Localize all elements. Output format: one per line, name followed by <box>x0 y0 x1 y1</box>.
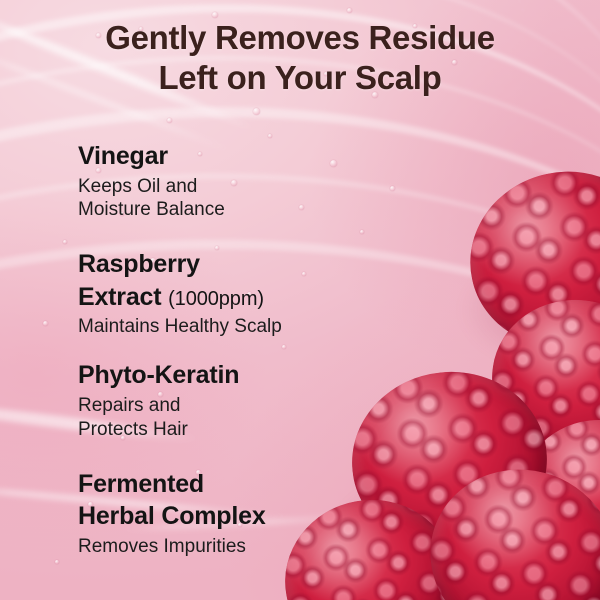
ingredient-item-raspberry-extract: Raspberry Extract (1000ppm) Maintains He… <box>78 248 368 339</box>
ingredient-quantity: (1000ppm) <box>168 288 264 310</box>
ingredient-item-phyto-keratin: Phyto-Keratin Repairs and Protects Hair <box>78 359 368 441</box>
ingredient-description: Maintains Healthy Scalp <box>78 315 368 339</box>
product-benefit-infographic: Gently Removes Residue Left on Your Scal… <box>0 0 600 600</box>
ingredient-description: Repairs and Protects Hair <box>78 394 368 442</box>
ingredient-name: Raspberry Extract (1000ppm) <box>78 248 368 313</box>
ingredient-list: Vinegar Keeps Oil and Moisture Balance R… <box>78 140 368 559</box>
ingredient-name: Fermented Herbal Complex <box>78 468 368 533</box>
ingredient-name-text: Phyto-Keratin <box>78 361 239 389</box>
ingredient-description: Removes Impurities <box>78 535 368 559</box>
page-title: Gently Removes Residue Left on Your Scal… <box>0 18 600 99</box>
ingredient-name: Phyto-Keratin <box>78 359 368 392</box>
ingredient-name-text: Vinegar <box>78 142 168 170</box>
ingredient-item-vinegar: Vinegar Keeps Oil and Moisture Balance <box>78 140 368 222</box>
ingredient-name: Vinegar <box>78 140 368 173</box>
ingredient-item-fermented-herbal-complex: Fermented Herbal Complex Removes Impurit… <box>78 468 368 559</box>
headline-line-1: Gently Removes Residue <box>105 19 495 56</box>
ingredient-name-text: Fermented Herbal Complex <box>78 470 266 531</box>
ingredient-description: Keeps Oil and Moisture Balance <box>78 175 368 223</box>
headline-line-2: Left on Your Scalp <box>20 58 580 98</box>
